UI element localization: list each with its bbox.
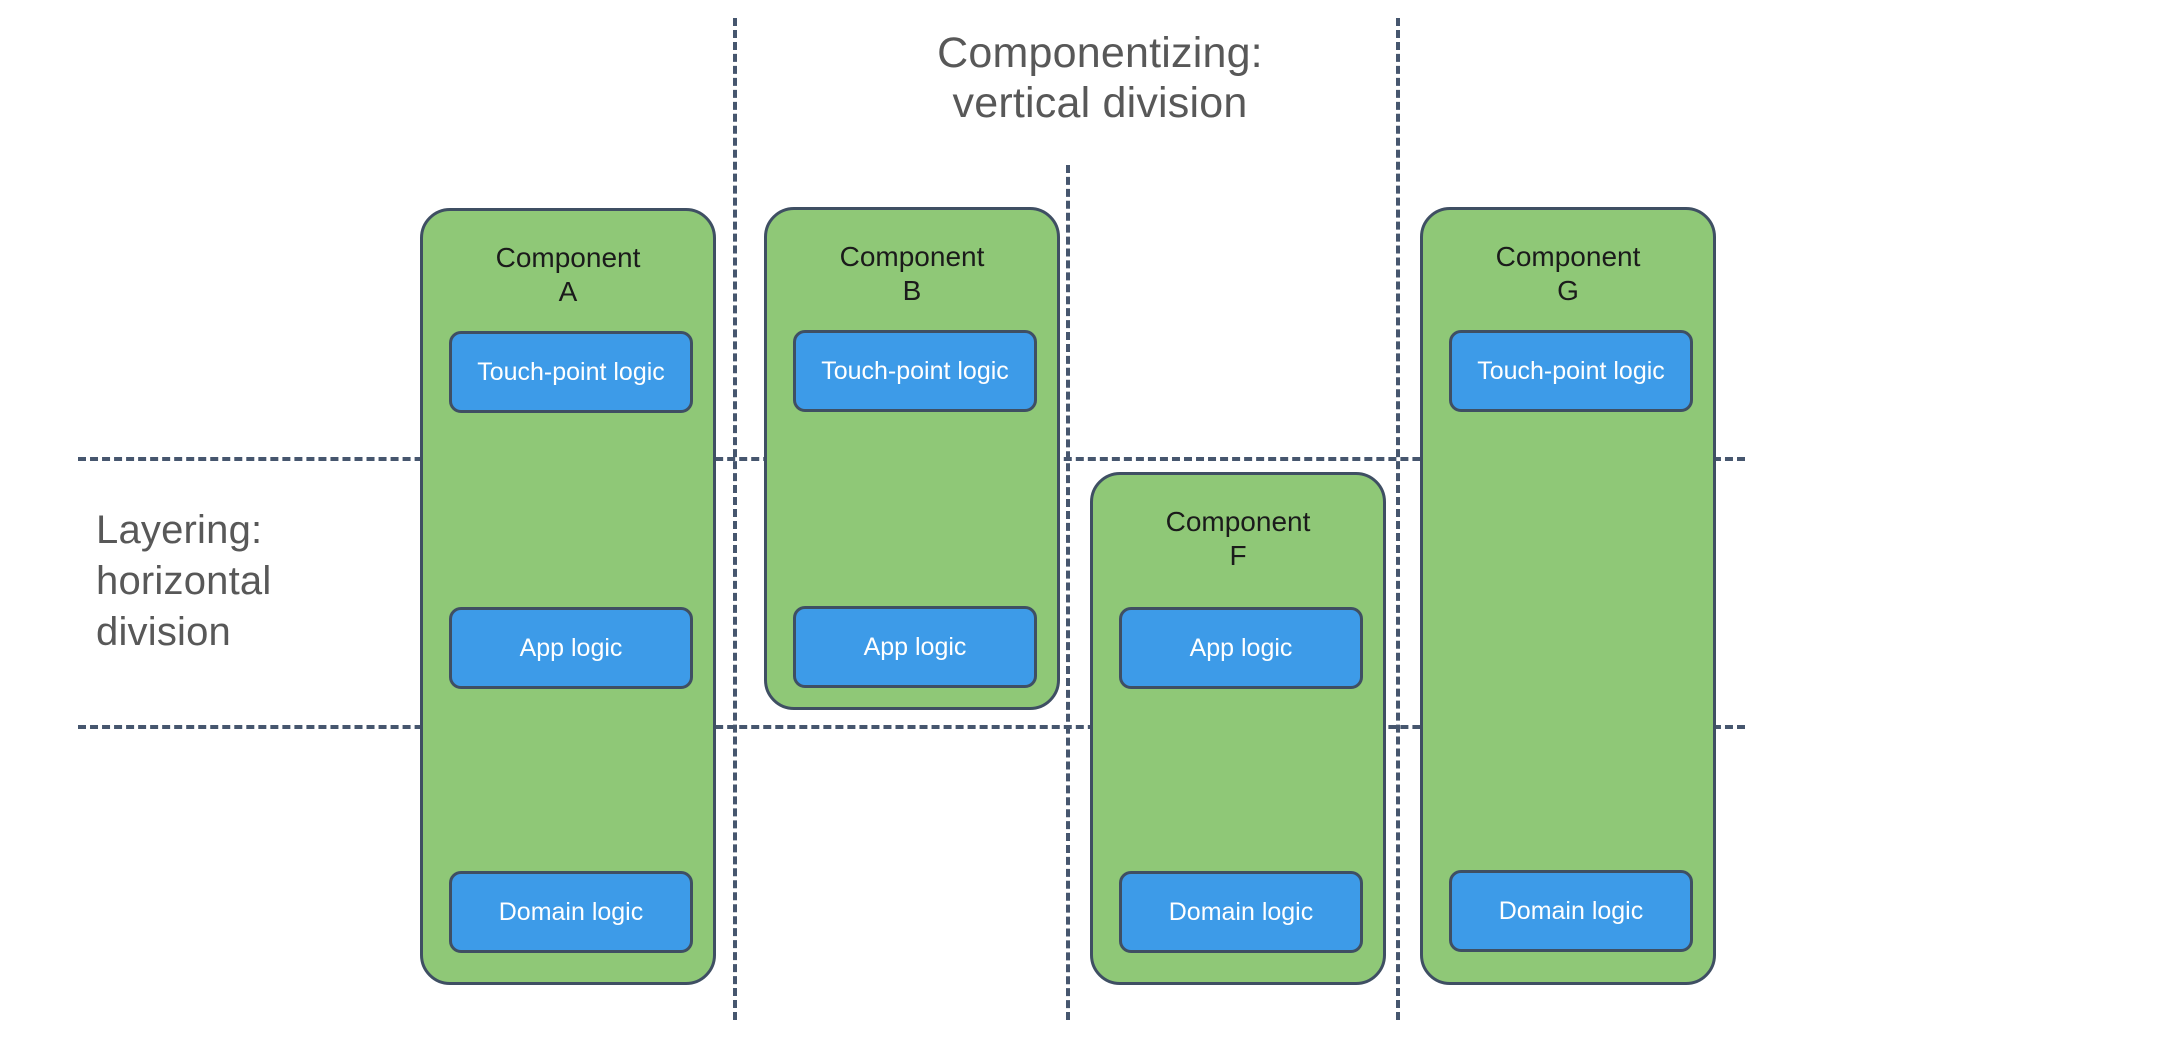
component-f-title: Component F <box>1093 505 1383 572</box>
component-b[interactable]: Component BTouch-point logicApp logic <box>764 207 1060 710</box>
component-g-title: Component G <box>1423 240 1713 307</box>
component-a-layer-touch-point-logic[interactable]: Touch-point logic <box>449 331 693 413</box>
vertical-divider-1 <box>733 18 737 1020</box>
component-b-layer-app-logic[interactable]: App logic <box>793 606 1037 688</box>
component-b-layer-touch-point-logic[interactable]: Touch-point logic <box>793 330 1037 412</box>
component-g-layer-touch-point-logic[interactable]: Touch-point logic <box>1449 330 1693 412</box>
component-g-layer-domain-logic[interactable]: Domain logic <box>1449 870 1693 952</box>
diagram-title: Componentizing: vertical division <box>760 28 1440 129</box>
component-a-layer-domain-logic[interactable]: Domain logic <box>449 871 693 953</box>
component-g[interactable]: Component GTouch-point logicDomain logic <box>1420 207 1716 985</box>
component-a-layer-app-logic[interactable]: App logic <box>449 607 693 689</box>
diagram-canvas: Componentizing: vertical division Layeri… <box>0 0 2157 1046</box>
component-a[interactable]: Component ATouch-point logicApp logicDom… <box>420 208 716 985</box>
layering-label: Layering: horizontal division <box>96 505 396 659</box>
component-f-layer-app-logic[interactable]: App logic <box>1119 607 1363 689</box>
component-a-title: Component A <box>423 241 713 308</box>
component-f[interactable]: Component FApp logicDomain logic <box>1090 472 1386 985</box>
component-f-layer-domain-logic[interactable]: Domain logic <box>1119 871 1363 953</box>
vertical-divider-3 <box>1396 18 1400 1020</box>
vertical-divider-2 <box>1066 165 1070 1020</box>
component-b-title: Component B <box>767 240 1057 307</box>
